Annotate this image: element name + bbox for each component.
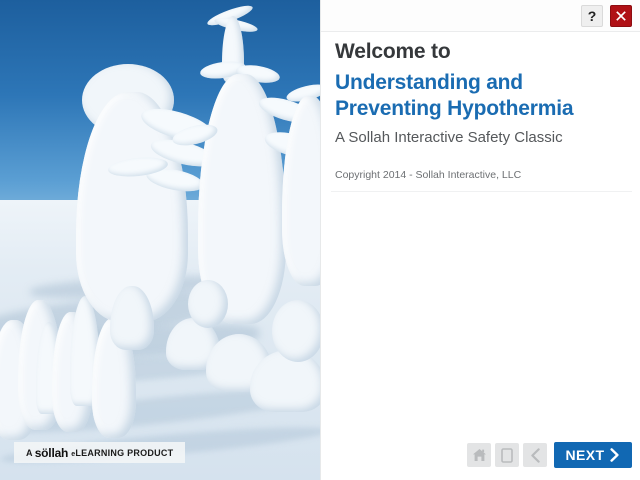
close-button[interactable] [610, 5, 632, 27]
course-player-window: A söllah eLEARNING PRODUCT ? Welcome to … [0, 0, 640, 480]
winter-scene-photo: A söllah eLEARNING PRODUCT [0, 0, 320, 480]
next-button[interactable]: NEXT [554, 442, 632, 468]
navigation-controls: NEXT [467, 442, 632, 468]
document-icon [501, 448, 513, 463]
page-subtitle: A Sollah Interactive Safety Classic [335, 128, 624, 148]
logo-suffix-text: LEARNING PRODUCT [75, 448, 173, 458]
home-icon [472, 448, 487, 462]
window-topbar: ? [321, 0, 640, 32]
back-button[interactable] [523, 443, 547, 467]
logo-prefix: A [26, 448, 33, 458]
content-panel: ? Welcome to Understanding and Preventin… [320, 0, 640, 480]
logo-brand: söllah [35, 446, 68, 460]
section-divider [331, 191, 632, 192]
help-button[interactable]: ? [581, 5, 603, 27]
copyright-text: Copyright 2014 - Sollah Interactive, LLC [335, 169, 624, 181]
chevron-left-icon [530, 448, 541, 463]
close-x-icon [615, 10, 627, 22]
welcome-line: Welcome to [335, 40, 624, 65]
next-button-label: NEXT [566, 447, 605, 463]
home-button[interactable] [467, 443, 491, 467]
snow-mound [272, 300, 320, 362]
notes-button[interactable] [495, 443, 519, 467]
snow-mound [188, 280, 228, 328]
chevron-right-icon [609, 448, 620, 462]
title-block: Welcome to Understanding and Preventing … [321, 32, 640, 181]
page-title: Understanding and Preventing Hypothermia [335, 70, 624, 123]
logo-suffix: eLEARNING PRODUCT [71, 448, 173, 458]
sollah-elearning-logo: A söllah eLEARNING PRODUCT [14, 442, 185, 463]
question-mark-icon: ? [588, 9, 597, 23]
